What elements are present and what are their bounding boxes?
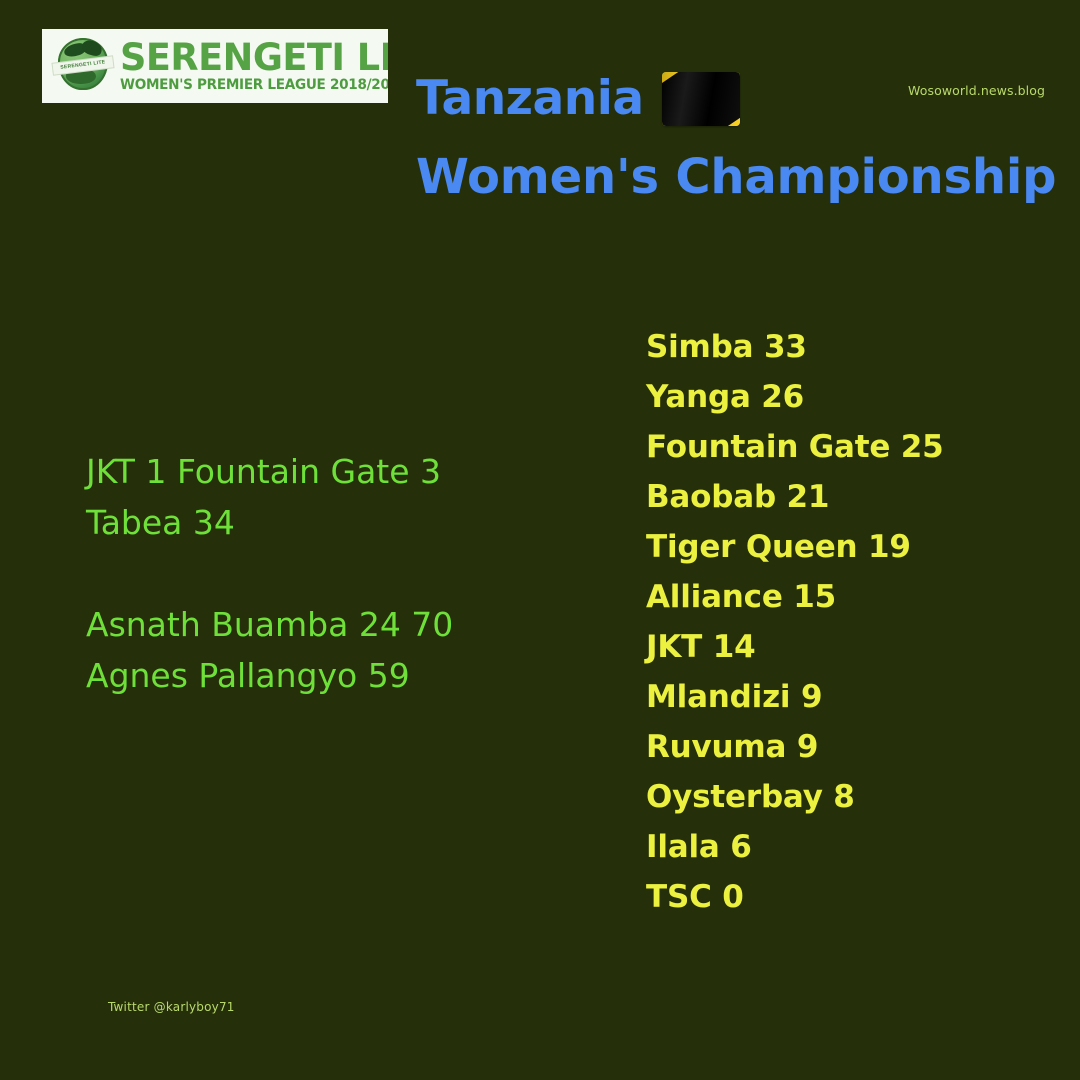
result-line: Agnes Pallangyo 59 [86,650,556,701]
league-standings-column: Simba 33 Yanga 26 Fountain Gate 25 Baoba… [646,322,1046,922]
league-logo-wordmark: SERENGETI LITE WOMEN'S PREMIER LEAGUE 20… [120,39,382,94]
match-results-column: JKT 1 Fountain Gate 3 Tabea 34 Asnath Bu… [86,446,556,701]
tanzania-flag-icon [662,72,740,126]
social-graphic-card: SERENGETI LITE SERENGETI LITE WOMEN'S PR… [0,0,1080,1080]
league-logo-title: SERENGETI LITE [120,39,379,77]
serengeti-globe-emblem-icon: SERENGETI LITE [52,32,114,100]
result-line: Tabea 34 [86,497,556,548]
league-logo-banner: SERENGETI LITE SERENGETI LITE WOMEN'S PR… [42,29,388,103]
standings-row: Simba 33 [646,322,1046,372]
headline-line-2: Women's Championship [416,138,1056,216]
site-watermark: Wosoworld.news.blog [908,83,1045,98]
standings-row: Ilala 6 [646,822,1046,872]
league-logo-subtitle: WOMEN'S PREMIER LEAGUE 2018/2019 [120,77,374,94]
flag-wave-shading [662,72,740,126]
standings-row: Baobab 21 [646,472,1046,522]
standings-row: TSC 0 [646,872,1046,922]
headline-line-1: Tanzania [416,60,644,138]
standings-row: Alliance 15 [646,572,1046,622]
standings-row: Tiger Queen 19 [646,522,1046,572]
results-spacer [86,548,556,599]
standings-row: Mlandizi 9 [646,672,1046,722]
standings-row: JKT 14 [646,622,1046,672]
headline-line-2-row: Women's Championship [416,138,1036,216]
standings-row: Fountain Gate 25 [646,422,1046,472]
standings-row: Yanga 26 [646,372,1046,422]
standings-row: Oysterbay 8 [646,772,1046,822]
author-credit: Twitter @karlyboy71 [108,1000,235,1014]
headline-line-1-row: Tanzania [416,60,1036,138]
standings-row: Ruvuma 9 [646,722,1046,772]
result-line: Asnath Buamba 24 70 [86,599,556,650]
result-line: JKT 1 Fountain Gate 3 [86,446,556,497]
